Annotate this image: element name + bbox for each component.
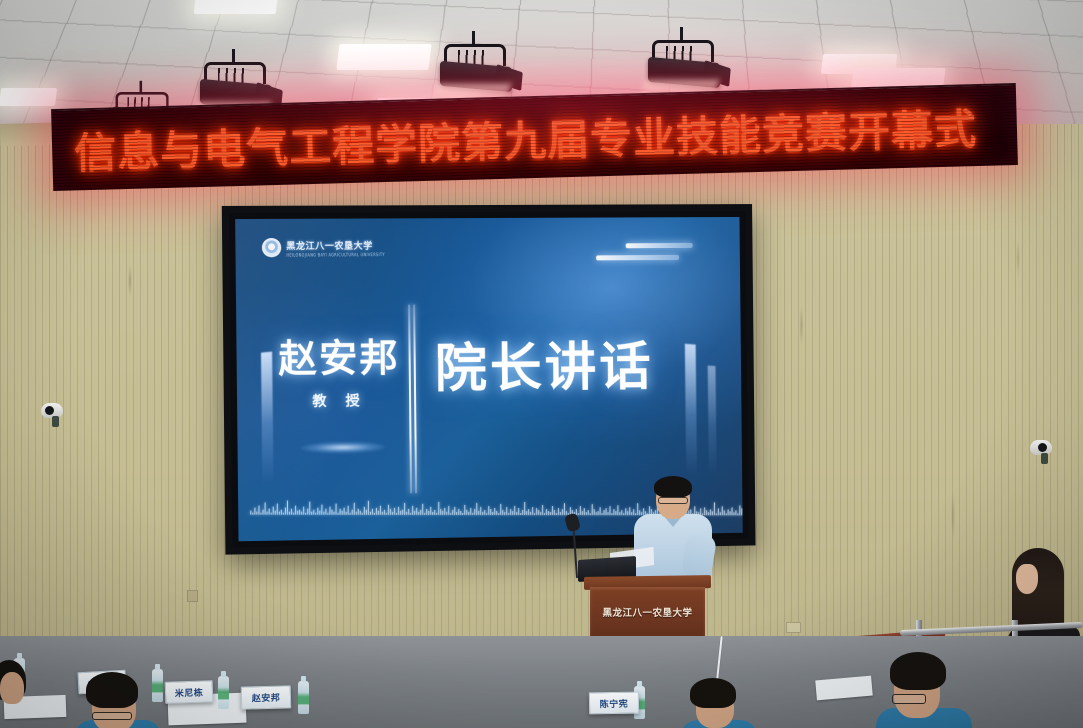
waveform-bar <box>548 511 549 515</box>
waveform-bar <box>352 510 353 515</box>
railing-bar-top <box>900 622 1083 636</box>
waveform-bar <box>502 510 503 515</box>
waveform-bar <box>726 513 727 515</box>
waveform-bar <box>474 509 475 515</box>
waveform-bar <box>544 513 545 515</box>
waveform-bar <box>508 513 509 515</box>
lecture-hall-scene: 信息与电气工程学院第九届专业技能竞赛开幕式 黑龙江八一农垦大学 HEILONGJ… <box>0 0 1083 728</box>
waveform-bar <box>452 510 453 515</box>
seated-hair <box>890 652 946 690</box>
waveform-bar <box>520 513 521 515</box>
waveform-bar <box>720 512 721 515</box>
waveform-bar <box>333 512 334 515</box>
waveform-bar <box>464 505 465 515</box>
name-card-3: 赵安邦 <box>241 685 292 709</box>
waveform-bar <box>735 510 736 515</box>
waveform-bar <box>480 507 481 515</box>
seated-hair <box>86 672 138 708</box>
waveform-bar <box>510 509 511 515</box>
waveform-bar <box>456 512 457 515</box>
waveform-bar <box>490 509 491 515</box>
seated-head <box>0 672 24 704</box>
waveform-bar <box>609 506 610 515</box>
waveform-bar <box>466 510 467 515</box>
waveform-bar <box>370 512 371 515</box>
waveform-bar <box>297 511 298 515</box>
waveform-bar <box>311 512 312 515</box>
waveform-bar <box>482 512 483 515</box>
waveform-bar <box>323 512 324 515</box>
waveform-bar <box>309 502 310 515</box>
waveform-bar <box>317 508 318 515</box>
waveform-bar <box>426 509 427 515</box>
waveform-bar <box>422 504 423 515</box>
waveform-bar <box>633 509 634 515</box>
waveform-bar <box>432 512 433 515</box>
waveform-bar <box>319 511 320 515</box>
waveform-bar <box>448 506 449 515</box>
waveform-bar <box>588 510 589 515</box>
waveform-bar <box>472 513 473 515</box>
waveform-bar <box>615 511 616 515</box>
waveform-bar <box>260 513 261 515</box>
waveform-bar <box>392 512 393 515</box>
waveform-bar <box>299 510 300 515</box>
waveform-bar <box>293 513 294 515</box>
waveform-bar <box>556 513 557 515</box>
waveform-bar <box>277 504 278 515</box>
waveform-bar <box>484 510 485 515</box>
waveform-bar <box>342 511 343 515</box>
waveform-bar <box>279 512 280 515</box>
slide-vertical-divider <box>408 305 417 494</box>
waveform-bar <box>390 509 391 515</box>
waveform-bar <box>327 513 328 515</box>
waveform-bar <box>364 507 365 515</box>
university-logo: 黑龙江八一农垦大学 HEILONGJIANG BAYI AGRICULTURAL… <box>262 238 385 258</box>
water-bottle-4 <box>298 681 309 714</box>
waveform-bar <box>718 508 719 515</box>
waveform-bar <box>340 509 341 515</box>
waveform-bar <box>732 507 733 515</box>
slide-decor-ellipse <box>301 441 386 453</box>
waveform-bar <box>329 507 330 515</box>
name-card-label: 陈宁宪 <box>600 696 629 709</box>
seated-glasses-icon <box>92 712 132 720</box>
waveform-bar <box>739 505 740 515</box>
waveform-bar <box>418 512 419 515</box>
waveform-bar <box>716 513 717 515</box>
waveform-bar <box>496 511 497 515</box>
waveform-bar <box>283 513 284 515</box>
waveform-bar <box>468 512 469 515</box>
waveform-bar <box>619 512 620 515</box>
waveform-bar <box>708 512 709 515</box>
waveform-bar <box>613 509 614 515</box>
led-banner-text: 信息与电气工程学院第九届专业技能竞赛开幕式 <box>73 96 977 181</box>
seated-hair <box>690 678 736 708</box>
waveform-bar <box>446 512 447 515</box>
waveform-bar <box>554 510 555 515</box>
waveform-bar <box>344 508 345 515</box>
waveform-bar <box>590 513 591 515</box>
waveform-bar <box>741 508 742 515</box>
waveform-bar <box>412 506 413 515</box>
waveform-bar <box>536 508 537 515</box>
waveform-bar <box>269 509 270 515</box>
waveform-bar <box>281 510 282 515</box>
camera-mount-arm <box>52 416 59 427</box>
waveform-bar <box>602 513 603 515</box>
waveform-bar <box>265 503 266 515</box>
waveform-bar <box>291 509 292 515</box>
waveform-bar <box>516 512 517 515</box>
name-card-label: 赵安邦 <box>252 691 281 705</box>
waveform-bar <box>552 506 553 515</box>
waveform-bar <box>534 513 535 515</box>
woman-face <box>1016 564 1038 594</box>
waveform-bar <box>394 508 395 515</box>
waveform-bar <box>325 509 326 515</box>
waveform-bar <box>631 512 632 515</box>
waveform-bar <box>313 510 314 515</box>
waveform-bar <box>303 507 304 515</box>
seated-glasses-icon <box>892 694 926 704</box>
waveform-bar <box>442 511 443 515</box>
wall-socket <box>786 622 801 633</box>
waveform-bar <box>492 512 493 515</box>
waveform-bar <box>528 509 529 515</box>
waveform-bar <box>454 507 455 515</box>
university-name-en: HEILONGJIANG BAYI AGRICULTURAL UNIVERSIT… <box>286 251 385 257</box>
waveform-bar <box>273 507 274 515</box>
waveform-bar <box>258 506 259 515</box>
security-camera-right <box>1030 440 1052 455</box>
waveform-bar <box>600 507 601 515</box>
waveform-bar <box>428 511 429 515</box>
waveform-bar <box>362 513 363 515</box>
waveform-bar <box>514 506 515 515</box>
waveform-bar <box>267 512 268 515</box>
waveform-bar <box>410 513 411 515</box>
podium-university-text: 黑龙江八一农垦大学 <box>590 605 705 619</box>
waveform-bar <box>289 512 290 515</box>
slide-decor-shard-right-2 <box>708 366 717 475</box>
waveform-bar <box>712 511 713 515</box>
waveform-bar <box>402 510 403 515</box>
waveform-bar <box>592 504 593 515</box>
waveform-bar <box>562 509 563 515</box>
waveform-bar <box>637 503 638 515</box>
waveform-bar <box>560 512 561 515</box>
name-card-4: 陈宁宪 <box>589 692 639 715</box>
slide-title: 院长讲话 <box>434 325 654 402</box>
waveform-bar <box>598 511 599 515</box>
waveform-bar <box>498 513 499 515</box>
waveform-bar <box>430 507 431 515</box>
waveform-bar <box>380 506 381 515</box>
waveform-bar <box>458 509 459 515</box>
waveform-bar <box>388 505 389 515</box>
waveform-bar <box>625 508 626 515</box>
waveform-bar <box>262 510 263 515</box>
camera-mount-arm <box>1041 453 1048 464</box>
slide-decor-bar-top <box>626 243 693 248</box>
waveform-bar <box>584 508 585 515</box>
waveform-bar <box>348 506 349 515</box>
waveform-bar <box>604 510 605 515</box>
waveform-bar <box>737 513 738 515</box>
waveform-bar <box>580 506 581 515</box>
waveform-bar <box>346 512 347 515</box>
waveform-bar <box>438 502 439 515</box>
waveform-bar <box>621 510 622 515</box>
security-camera-left <box>41 403 63 418</box>
water-bottle-2 <box>152 669 163 702</box>
waveform-bar <box>639 510 640 515</box>
waveform-bar <box>629 507 630 515</box>
waveform-bar <box>384 510 385 515</box>
name-card-label: 米尼栋 <box>175 685 204 699</box>
waveform-bar <box>714 502 715 515</box>
waveform-bar <box>733 512 734 515</box>
waveform-bar <box>404 503 405 515</box>
waveform-bar <box>594 509 595 515</box>
slide-decor-bar-bottom <box>596 255 679 260</box>
waveform-bar <box>408 509 409 515</box>
waveform-bar <box>444 508 445 515</box>
waveform-bar <box>372 509 373 515</box>
waveform-bar <box>295 506 296 515</box>
waveform-bar <box>546 509 547 515</box>
waveform-bar <box>635 513 636 515</box>
waveform-bar <box>315 513 316 515</box>
waveform-bar <box>406 512 407 515</box>
waveform-bar <box>623 513 624 515</box>
waveform-bar <box>382 512 383 515</box>
waveform-bar <box>500 504 501 515</box>
waveform-bar <box>360 511 361 515</box>
waveform-bar <box>504 512 505 515</box>
waveform-bar <box>578 513 579 515</box>
waveform-bar <box>704 507 705 515</box>
waveform-bar <box>564 503 565 515</box>
waveform-bar <box>611 513 612 515</box>
waveform-bar <box>532 507 533 515</box>
water-bottle-3 <box>218 676 229 709</box>
waveform-bar <box>400 511 401 515</box>
waveform-bar <box>335 504 336 515</box>
waveform-bar <box>728 509 729 515</box>
waveform-bar <box>512 511 513 515</box>
waveform-bar <box>414 511 415 515</box>
waveform-bar <box>301 512 302 515</box>
waveform-bar <box>305 513 306 515</box>
waveform-bar <box>254 508 255 515</box>
waveform-bar <box>596 512 597 515</box>
camera-lens-icon <box>1038 443 1047 452</box>
waveform-bar <box>606 508 607 515</box>
waveform-bar <box>256 512 257 515</box>
waveform-bar <box>287 501 288 515</box>
waveform-bar <box>538 510 539 515</box>
waveform-bar <box>398 507 399 515</box>
waveform-bar <box>478 511 479 515</box>
waveform-bar <box>522 510 523 515</box>
university-emblem-icon <box>262 238 282 257</box>
waveform-bar <box>627 511 628 515</box>
waveform-bar <box>488 506 489 515</box>
waveform-bar <box>724 510 725 515</box>
waveform-bar <box>434 510 435 515</box>
speaker-glasses-icon <box>658 497 688 504</box>
waveform-bar <box>420 510 421 515</box>
waveform-bar <box>358 509 359 515</box>
waveform-bar <box>530 512 531 515</box>
waveform-bar <box>350 513 351 515</box>
waveform-bar <box>436 513 437 515</box>
slide-speaker-name: 赵安邦 <box>273 327 405 384</box>
waveform-bar <box>374 513 375 515</box>
waveform-bar <box>321 505 322 515</box>
waveform-bar <box>416 508 417 515</box>
waveform-bar <box>331 510 332 515</box>
waveform-bar <box>582 511 583 515</box>
waveform-bar <box>558 508 559 515</box>
waveform-bar <box>476 503 477 515</box>
waveform-bar <box>494 508 495 515</box>
waveform-bar <box>354 503 355 515</box>
waveform-bar <box>550 512 551 515</box>
waveform-bar <box>506 507 507 515</box>
waveform-bar <box>617 505 618 515</box>
waveform-bar <box>386 513 387 515</box>
name-card-2: 米尼栋 <box>165 680 214 704</box>
waveform-bar <box>366 510 367 515</box>
waveform-bar <box>524 502 525 515</box>
waveform-bar <box>440 509 441 515</box>
university-name-cn: 黑龙江八一农垦大学 <box>286 238 385 252</box>
waveform-bar <box>462 513 463 515</box>
waveform-bar <box>470 508 471 515</box>
divider-line-2 <box>413 305 417 494</box>
speaker-hair <box>654 476 692 498</box>
waveform-bar <box>526 511 527 515</box>
slide-decor-shard-left <box>261 352 274 484</box>
waveform-bar <box>607 512 608 515</box>
waveform-bar <box>540 512 541 515</box>
divider-line-1 <box>408 305 412 494</box>
waveform-bar <box>271 513 272 515</box>
waveform-bar <box>368 501 369 515</box>
waveform-bar <box>722 506 723 515</box>
waveform-bar <box>450 513 451 515</box>
waveform-bar <box>518 508 519 515</box>
waveform-bar <box>376 508 377 515</box>
waveform-bar <box>250 511 251 515</box>
university-logo-text: 黑龙江八一农垦大学 HEILONGJIANG BAYI AGRICULTURAL… <box>286 238 385 257</box>
waveform-bar <box>275 511 276 515</box>
waveform-bar <box>460 511 461 515</box>
slide-speaker-role: 教 授 <box>274 390 406 412</box>
waveform-bar <box>486 513 487 515</box>
camera-lens-icon <box>45 406 54 415</box>
slide-decor-shard-right-1 <box>685 344 697 476</box>
waveform-bar <box>285 508 286 515</box>
waveform-bar <box>338 513 339 515</box>
waveform-bar <box>307 509 308 515</box>
waveform-bar <box>710 509 711 515</box>
wall-outlet-plate <box>187 590 198 602</box>
waveform-bar <box>356 512 357 515</box>
waveform-bar <box>396 513 397 515</box>
waveform-bar <box>586 512 587 515</box>
waveform-bar <box>252 513 253 515</box>
waveform-bar <box>542 505 543 515</box>
waveform-bar <box>730 511 731 515</box>
waveform-bar <box>424 513 425 515</box>
waveform-bar <box>378 511 379 515</box>
waveform-bar <box>706 510 707 515</box>
